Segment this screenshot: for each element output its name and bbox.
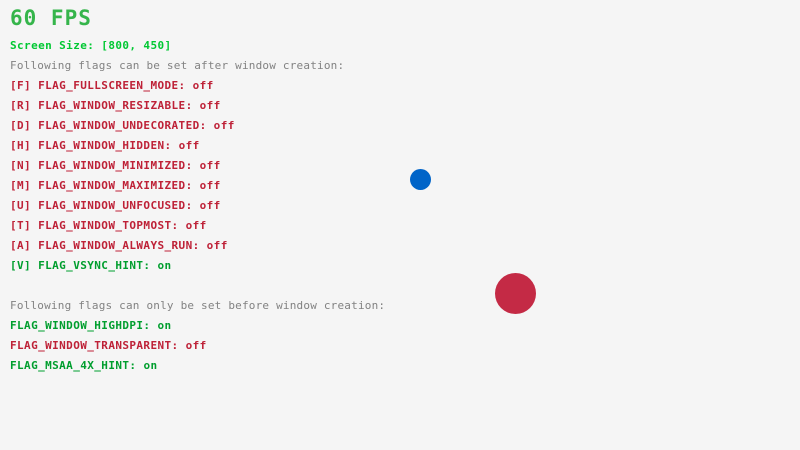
flag-shortcut-key: [R] [10, 99, 38, 112]
flag-name: FLAG_WINDOW_HIGHDPI: [10, 319, 150, 332]
runtime-flag-flag-window-unfocused[interactable]: [U] FLAG_WINDOW_UNFOCUSED: off [10, 200, 221, 211]
flag-shortcut-key: [V] [10, 259, 38, 272]
flag-spacer [150, 259, 157, 272]
flag-value: off [207, 239, 228, 252]
flag-name: FLAG_VSYNC_HINT: [38, 259, 150, 272]
flag-shortcut-key: [U] [10, 199, 38, 212]
flag-name: FLAG_WINDOW_UNDECORATED: [38, 119, 207, 132]
flag-value: off [200, 99, 221, 112]
creation-flag-flag-window-transparent[interactable]: FLAG_WINDOW_TRANSPARENT: off [10, 340, 207, 351]
small-blue-ball [410, 169, 431, 190]
flag-name: FLAG_WINDOW_UNFOCUSED: [38, 199, 193, 212]
flag-value: off [186, 219, 207, 232]
large-red-ball [495, 273, 536, 314]
flag-spacer [172, 139, 179, 152]
runtime-flag-flag-window-minimized[interactable]: [N] FLAG_WINDOW_MINIMIZED: off [10, 160, 221, 171]
runtime-flag-flag-window-hidden[interactable]: [H] FLAG_WINDOW_HIDDEN: off [10, 140, 200, 151]
creation-flag-flag-msaa-4x-hint[interactable]: FLAG_MSAA_4X_HINT: on [10, 360, 157, 371]
flag-value: off [200, 159, 221, 172]
flag-name: FLAG_WINDOW_HIDDEN: [38, 139, 171, 152]
runtime-flag-flag-window-undecorated[interactable]: [D] FLAG_WINDOW_UNDECORATED: off [10, 120, 235, 131]
flag-value: off [200, 199, 221, 212]
creation-flags-heading: Following flags can only be set before w… [10, 300, 385, 311]
flag-spacer [200, 239, 207, 252]
runtime-flags-heading: Following flags can be set after window … [10, 60, 344, 71]
flag-name: FLAG_FULLSCREEN_MODE: [38, 79, 185, 92]
flag-name: FLAG_WINDOW_MINIMIZED: [38, 159, 193, 172]
flag-spacer [186, 79, 193, 92]
flag-shortcut-key: [M] [10, 179, 38, 192]
flag-spacer [193, 199, 200, 212]
runtime-flag-flag-vsync-hint[interactable]: [V] FLAG_VSYNC_HINT: on [10, 260, 172, 271]
runtime-flag-flag-window-maximized[interactable]: [M] FLAG_WINDOW_MAXIMIZED: off [10, 180, 221, 191]
screen-size-label: Screen Size: [800, 450] [10, 40, 172, 51]
flag-name: FLAG_WINDOW_RESIZABLE: [38, 99, 193, 112]
flag-value: on [157, 319, 171, 332]
flag-value: off [186, 339, 207, 352]
flag-shortcut-key: [D] [10, 119, 38, 132]
flag-shortcut-key: [F] [10, 79, 38, 92]
flag-shortcut-key: [A] [10, 239, 38, 252]
creation-flag-flag-window-highdpi[interactable]: FLAG_WINDOW_HIGHDPI: on [10, 320, 172, 331]
runtime-flag-flag-window-topmost[interactable]: [T] FLAG_WINDOW_TOPMOST: off [10, 220, 207, 231]
flag-spacer [207, 119, 214, 132]
flag-name: FLAG_WINDOW_MAXIMIZED: [38, 179, 193, 192]
flag-spacer [193, 99, 200, 112]
flag-value: off [200, 179, 221, 192]
flag-shortcut-key: [T] [10, 219, 38, 232]
flag-name: FLAG_WINDOW_TRANSPARENT: [10, 339, 179, 352]
flag-spacer [179, 339, 186, 352]
flag-value: on [158, 259, 172, 272]
flag-spacer [193, 159, 200, 172]
runtime-flag-flag-fullscreen-mode[interactable]: [F] FLAG_FULLSCREEN_MODE: off [10, 80, 214, 91]
runtime-flag-flag-window-resizable[interactable]: [R] FLAG_WINDOW_RESIZABLE: off [10, 100, 221, 111]
fps-counter: 60 FPS [10, 8, 92, 29]
runtime-flag-flag-window-always-run[interactable]: [A] FLAG_WINDOW_ALWAYS_RUN: off [10, 240, 228, 251]
flag-spacer [193, 179, 200, 192]
flag-value: off [179, 139, 200, 152]
flag-value: off [193, 79, 214, 92]
flag-shortcut-key: [N] [10, 159, 38, 172]
raylib-window: 60 FPS Screen Size: [800, 450] Following… [0, 0, 800, 450]
flag-name: FLAG_WINDOW_ALWAYS_RUN: [38, 239, 200, 252]
flag-spacer [179, 219, 186, 232]
flag-name: FLAG_MSAA_4X_HINT: [10, 359, 136, 372]
flag-shortcut-key: [H] [10, 139, 38, 152]
flag-value: on [143, 359, 157, 372]
flag-name: FLAG_WINDOW_TOPMOST: [38, 219, 178, 232]
flag-value: off [214, 119, 235, 132]
